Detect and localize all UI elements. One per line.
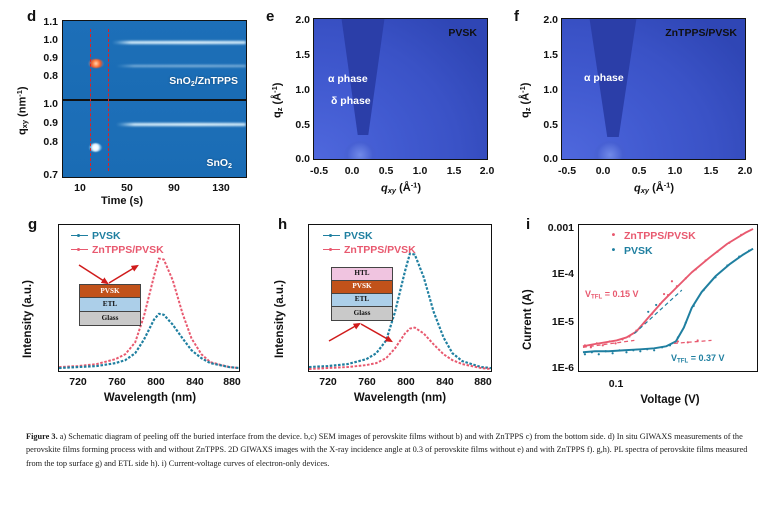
panel-e-xlabel: qxy (Å-1) [381, 181, 421, 195]
panel-i-ytick-0: 0.001 [528, 222, 574, 234]
panel-h-xlabel: Wavelength (nm) [354, 392, 446, 404]
panel-e: e qz (Å-1) PVSK α phase δ phase 2.0 1.5 … [258, 0, 506, 210]
panel-d-ytick-bot-2: 0.8 [36, 136, 58, 148]
panel-g: g Intensity (a.u.) PVSK ZnTPPS/PVSK PVSK… [0, 210, 252, 425]
panel-g-inset-arrows [75, 263, 145, 289]
legend-dot-pvsk: • [605, 244, 622, 256]
caption-label: Figure 3. [26, 432, 58, 441]
panel-g-ylabel: Intensity (a.u.) [22, 280, 34, 358]
ring-q2.0 [561, 18, 746, 160]
panel-h-label: h [278, 216, 287, 233]
panel-e-ytick-4: 0.0 [286, 153, 310, 165]
panel-h-ylabel: Intensity (a.u.) [274, 280, 286, 358]
panel-f-xtick-5: 2.0 [738, 165, 753, 177]
panel-f-giwaxs: ZnTPPS/PVSK α phase [561, 18, 746, 160]
caption-text: a) Schematic diagram of peeling off the … [26, 432, 747, 468]
legend-swatch-pvsk [323, 235, 340, 236]
panel-i-legend-pvsk: •PVSK [605, 244, 653, 257]
panel-f-ytick-0: 2.0 [534, 14, 558, 26]
panel-h-inset-arrows [325, 321, 401, 347]
panel-d-xtick-3: 130 [212, 182, 230, 194]
panel-h-legend-pvsk: PVSK [323, 230, 373, 242]
panel-e-xtick-3: 1.0 [413, 165, 428, 177]
panel-d-ytick-top-0: 1.1 [36, 16, 58, 28]
panel-h-plot: PVSK ZnTPPS/PVSK HTL PVSK ETL Glass [308, 224, 492, 372]
inset-layer-pvsk: PVSK [332, 281, 392, 294]
panel-i-xtick-0: 0.1 [609, 378, 624, 390]
alpha-arc-left [313, 18, 488, 160]
panel-f-ytick-2: 1.0 [534, 84, 558, 96]
panel-i-legend-zntpps: •ZnTPPS/PVSK [605, 229, 696, 242]
panel-i-ytick-1: 1E-4 [528, 268, 574, 280]
panel-f-xtick-4: 1.5 [704, 165, 719, 177]
panel-h-xtick-1: 760 [358, 376, 376, 388]
panel-g-xtick-1: 760 [108, 376, 126, 388]
panel-h-xtick-0: 720 [319, 376, 337, 388]
inset-layer-etl: ETL [80, 298, 140, 311]
inset-layer-etl: ETL [332, 294, 392, 307]
panel-f-xtick-0: -0.5 [558, 165, 576, 177]
panel-h: h Intensity (a.u.) PVSK ZnTPPS/PVSK HTL … [252, 210, 504, 425]
guide-line-right [108, 29, 109, 171]
panel-e-giwaxs: PVSK α phase δ phase [313, 18, 488, 160]
panel-e-xtick-2: 0.5 [379, 165, 394, 177]
panel-d-ytick-top-1: 1.0 [36, 34, 58, 46]
panel-g-xlabel: Wavelength (nm) [104, 392, 196, 404]
panel-d-ytick-top-2: 0.9 [36, 52, 58, 64]
panel-f-xlabel: qxy (Å-1) [634, 181, 674, 195]
panel-g-label: g [28, 216, 37, 233]
inset-layer-glass: Glass [332, 307, 392, 320]
panel-e-xtick-5: 2.0 [480, 165, 495, 177]
inset-layer-glass: Glass [80, 312, 140, 325]
panel-h-xtick-4: 880 [474, 376, 492, 388]
panel-d: d qxy (nm-1) SnO2/ZnTPPS SnO2 1.1 1.0 0.… [0, 0, 258, 210]
panel-f-label: f [514, 8, 519, 25]
panel-f: f qz (Å-1) ZnTPPS/PVSK α phase 2.0 1.5 1… [506, 0, 774, 210]
panel-f-xtick-3: 1.0 [668, 165, 683, 177]
panel-d-ytick-bot-3: 0.7 [36, 169, 58, 181]
panel-e-ytick-2: 1.0 [286, 84, 310, 96]
panel-i-ytick-3: 1E-6 [528, 362, 574, 374]
panel-d-heatmap: SnO2/ZnTPPS SnO2 [62, 20, 247, 178]
panel-e-ytick-1: 1.5 [286, 49, 310, 61]
panel-g-xtick-3: 840 [186, 376, 204, 388]
guide-line-left [90, 29, 91, 171]
panel-g-xtick-4: 880 [223, 376, 241, 388]
panel-g-legend-pvsk: PVSK [71, 230, 121, 242]
panel-f-xtick-2: 0.5 [632, 165, 647, 177]
panel-d-ytick-bot-0: 1.0 [36, 98, 58, 110]
panel-d-ytick-top-3: 0.8 [36, 70, 58, 82]
panel-f-alpha-label: α phase [584, 72, 624, 84]
panel-e-ytick-0: 2.0 [286, 14, 310, 26]
panel-i-plot: •ZnTPPS/PVSK •PVSK VTFL = 0.15 V VTFL = … [578, 224, 758, 372]
panel-f-ytick-3: 0.5 [534, 119, 558, 131]
panel-e-label: e [266, 8, 274, 25]
panel-f-xtick-1: 0.0 [596, 165, 611, 177]
panel-h-legend-zntpps: ZnTPPS/PVSK [323, 244, 416, 256]
legend-dot-zntpps: • [605, 229, 622, 241]
panel-d-annotation-bottom: SnO2 [206, 157, 232, 170]
panel-i-xlabel: Voltage (V) [640, 394, 699, 406]
panel-e-ylabel: qz (Å-1) [270, 83, 284, 118]
panel-i: i Current (A) [504, 210, 774, 425]
panel-h-inset-stack: HTL PVSK ETL Glass [331, 267, 393, 321]
panel-e-xtick-4: 1.5 [447, 165, 462, 177]
panel-i-vtfl-blue: VTFL = 0.37 V [671, 353, 725, 365]
panel-d-xlabel: Time (s) [101, 195, 143, 207]
panel-f-ytick-4: 0.0 [534, 153, 558, 165]
panel-f-ytick-1: 1.5 [534, 49, 558, 61]
panel-d-xtick-0: 10 [74, 182, 86, 194]
figure-caption: Figure 3. a) Schematic diagram of peelin… [26, 430, 748, 470]
panel-h-xtick-3: 840 [436, 376, 454, 388]
panel-g-plot: PVSK ZnTPPS/PVSK PVSK ETL Glass [58, 224, 240, 372]
figure-3: d qxy (nm-1) SnO2/ZnTPPS SnO2 1.1 1.0 0.… [0, 0, 774, 518]
panel-h-xtick-2: 800 [397, 376, 415, 388]
panel-g-xtick-0: 720 [69, 376, 87, 388]
panel-d-ylabel: qxy (nm-1) [15, 86, 29, 135]
panel-g-legend-zntpps: ZnTPPS/PVSK [71, 244, 164, 256]
legend-swatch-pvsk [71, 235, 88, 236]
panel-e-xtick-1: 0.0 [345, 165, 360, 177]
legend-swatch-zntpps [71, 249, 88, 250]
legend-swatch-zntpps [323, 249, 340, 250]
panel-e-sample-label: PVSK [448, 27, 477, 39]
inset-layer-htl: HTL [332, 268, 392, 281]
panel-e-delta-label: δ phase [331, 95, 371, 107]
panel-g-inset-stack: PVSK ETL Glass [79, 284, 141, 326]
panel-d-xtick-2: 90 [168, 182, 180, 194]
panel-d-annotation-top: SnO2/ZnTPPS [169, 75, 238, 88]
panel-e-alpha-label: α phase [328, 73, 368, 85]
panel-f-sample-label: ZnTPPS/PVSK [665, 27, 737, 39]
panel-g-xtick-2: 800 [147, 376, 165, 388]
panel-d-xtick-1: 50 [121, 182, 133, 194]
panel-i-vtfl-red: VTFL = 0.15 V [585, 289, 639, 301]
panel-e-xtick-0: -0.5 [310, 165, 328, 177]
panel-e-ytick-3: 0.5 [286, 119, 310, 131]
panel-i-ytick-2: 1E-5 [528, 316, 574, 328]
panel-f-ylabel: qz (Å-1) [518, 83, 532, 118]
panel-d-label: d [27, 8, 36, 25]
panel-d-ytick-bot-1: 0.9 [36, 117, 58, 129]
